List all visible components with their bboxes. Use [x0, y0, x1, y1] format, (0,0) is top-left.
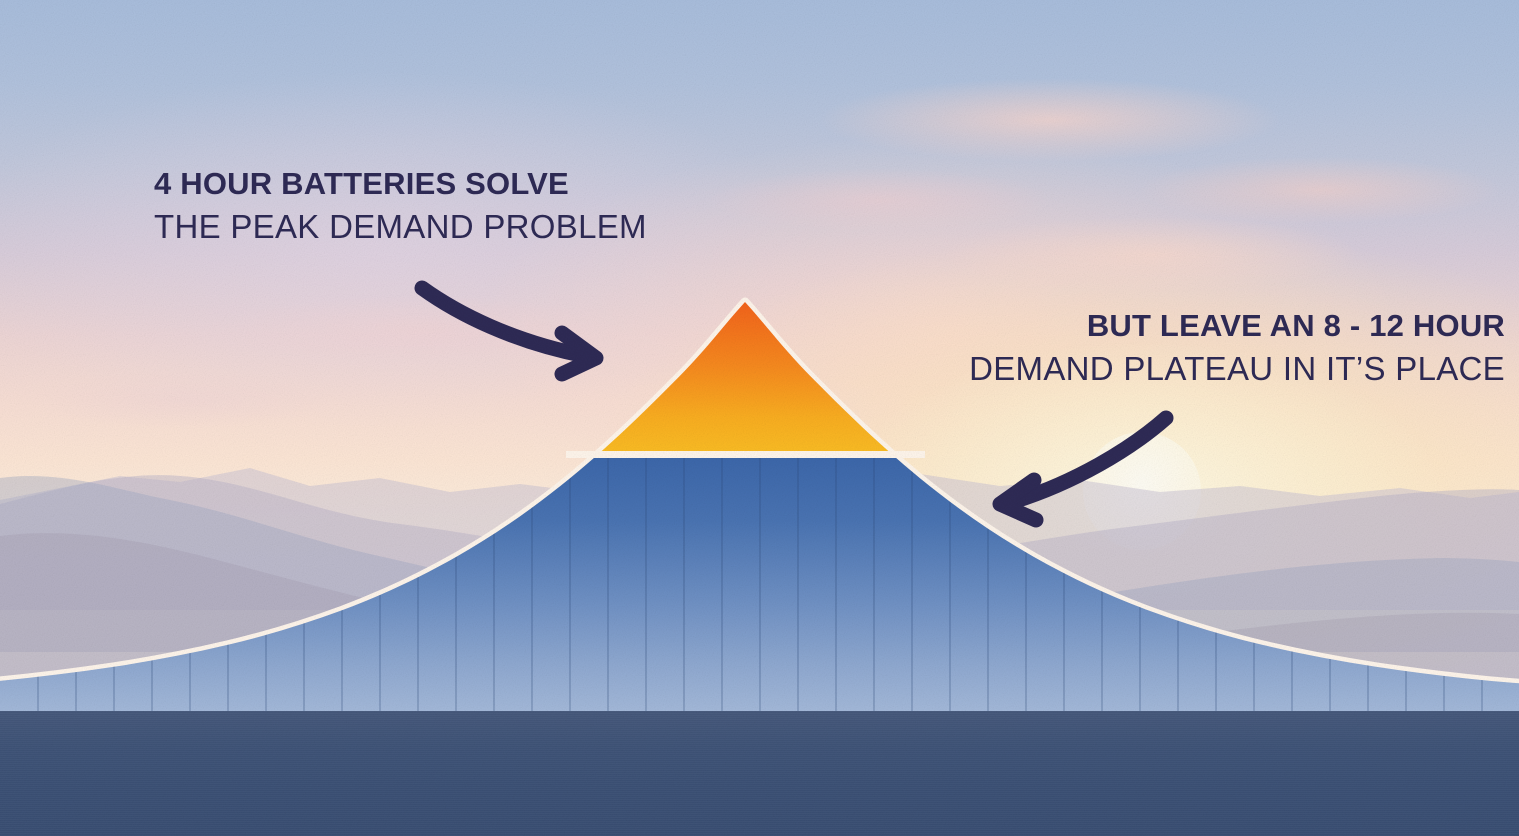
callout-right: BUT LEAVE AN 8 - 12 HOUR DEMAND PLATEAU …: [969, 310, 1505, 386]
callout-left-subline: THE PEAK DEMAND PROBLEM: [154, 210, 647, 245]
infographic-canvas: 4 HOUR BATTERIES SOLVE THE PEAK DEMAND P…: [0, 0, 1519, 836]
callout-left: 4 HOUR BATTERIES SOLVE THE PEAK DEMAND P…: [154, 168, 647, 244]
curved-arrow-down-right-icon: [410, 270, 620, 380]
demand-plateau-area: [0, 456, 1519, 716]
callout-left-headline: 4 HOUR BATTERIES SOLVE: [154, 168, 647, 201]
callout-right-headline: BUT LEAVE AN 8 - 12 HOUR: [969, 310, 1505, 343]
foreground-band: [0, 711, 1519, 836]
curved-arrow-down-left-icon: [990, 408, 1180, 528]
callout-right-subline: DEMAND PLATEAU IN IT’S PLACE: [969, 352, 1505, 387]
